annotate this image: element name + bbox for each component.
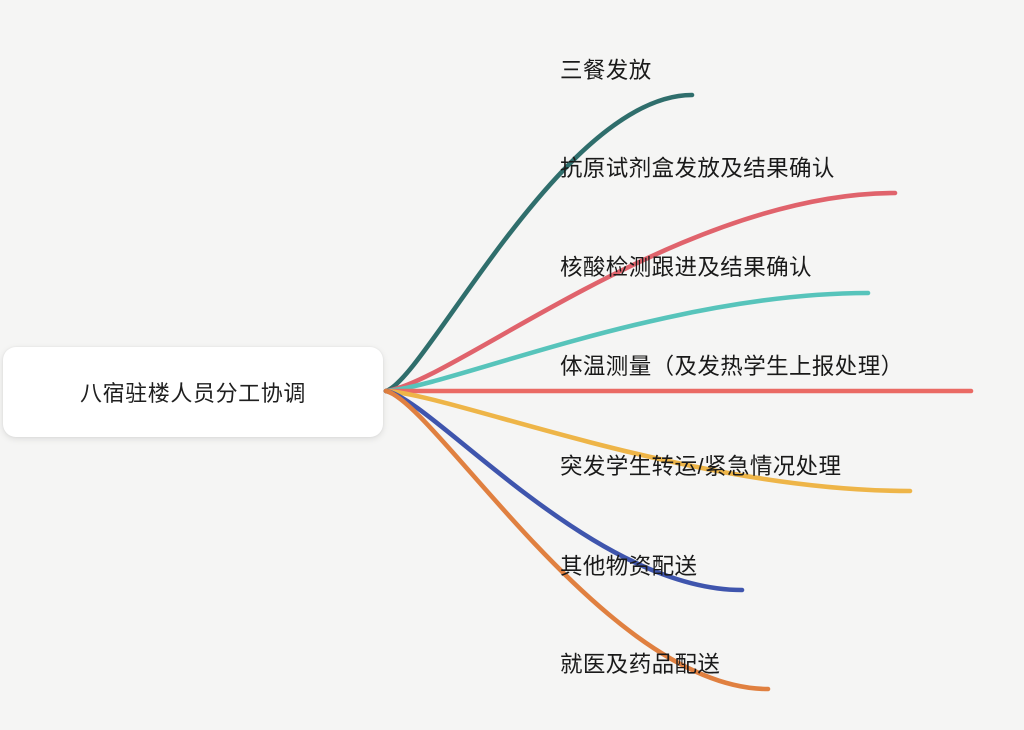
mindmap-canvas: 八宿驻楼人员分工协调 三餐发放抗原试剂盒发放及结果确认核酸检测跟进及结果确认体温… xyxy=(0,0,1024,730)
branch-label[interactable]: 突发学生转运/紧急情况处理 xyxy=(560,456,841,479)
branch-connector xyxy=(386,95,692,391)
branch-label[interactable]: 其他物资配送 xyxy=(560,556,697,579)
branch-label[interactable]: 就医及药品配送 xyxy=(560,654,720,677)
root-node[interactable]: 八宿驻楼人员分工协调 xyxy=(3,347,383,437)
branch-connector xyxy=(386,391,768,689)
branch-label[interactable]: 核酸检测跟进及结果确认 xyxy=(560,257,812,280)
branch-label[interactable]: 抗原试剂盒发放及结果确认 xyxy=(560,158,835,181)
root-node-label: 八宿驻楼人员分工协调 xyxy=(80,376,306,408)
branch-label[interactable]: 三餐发放 xyxy=(560,60,652,83)
branch-label[interactable]: 体温测量（及发热学生上报处理） xyxy=(560,356,904,379)
